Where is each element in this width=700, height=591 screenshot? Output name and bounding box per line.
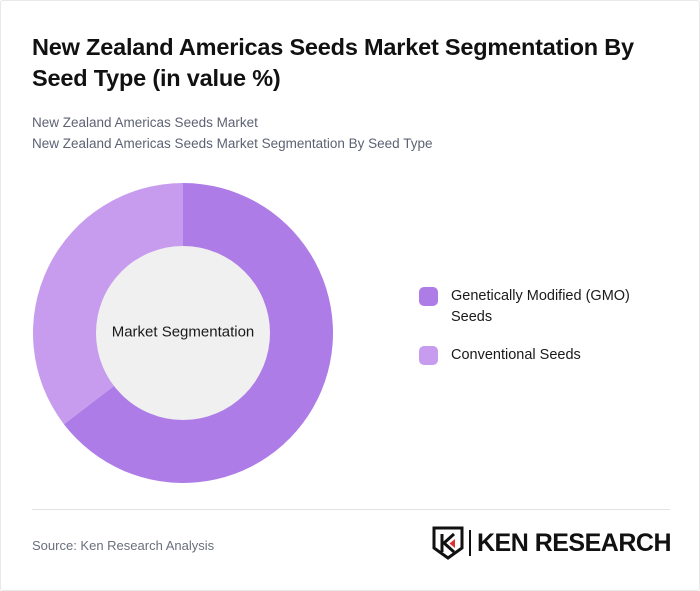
brand-divider [469,530,471,556]
legend-swatch-gmo [419,287,438,306]
donut-chart: Market Segmentation [33,183,333,483]
legend-item-gmo[interactable]: Genetically Modified (GMO) Seeds [419,286,679,327]
source-note: Source: Ken Research Analysis [32,538,214,553]
legend-label-gmo: Genetically Modified (GMO) Seeds [451,286,666,327]
donut-svg [33,183,333,483]
page-title: New Zealand Americas Seeds Market Segmen… [32,32,662,95]
legend-label-conventional: Conventional Seeds [451,345,581,366]
subtitle-block: New Zealand Americas Seeds Market New Ze… [32,113,652,155]
legend-item-conventional[interactable]: Conventional Seeds [419,345,679,366]
subtitle-line-1: New Zealand Americas Seeds Market [32,113,652,134]
chart-card: New Zealand Americas Seeds Market Segmen… [0,0,700,591]
chart-legend: Genetically Modified (GMO) Seeds Convent… [419,286,679,384]
brand-name: KEN RESEARCH [477,531,671,556]
subtitle-line-2: New Zealand Americas Seeds Market Segmen… [32,134,652,155]
donut-hole [96,246,270,420]
footer-divider [32,509,670,510]
ken-research-shield-icon [432,526,464,560]
legend-swatch-conventional [419,346,438,365]
brand-logo: KEN RESEARCH [432,525,671,561]
chart-area: Market Segmentation Genetically Modified… [1,161,700,501]
